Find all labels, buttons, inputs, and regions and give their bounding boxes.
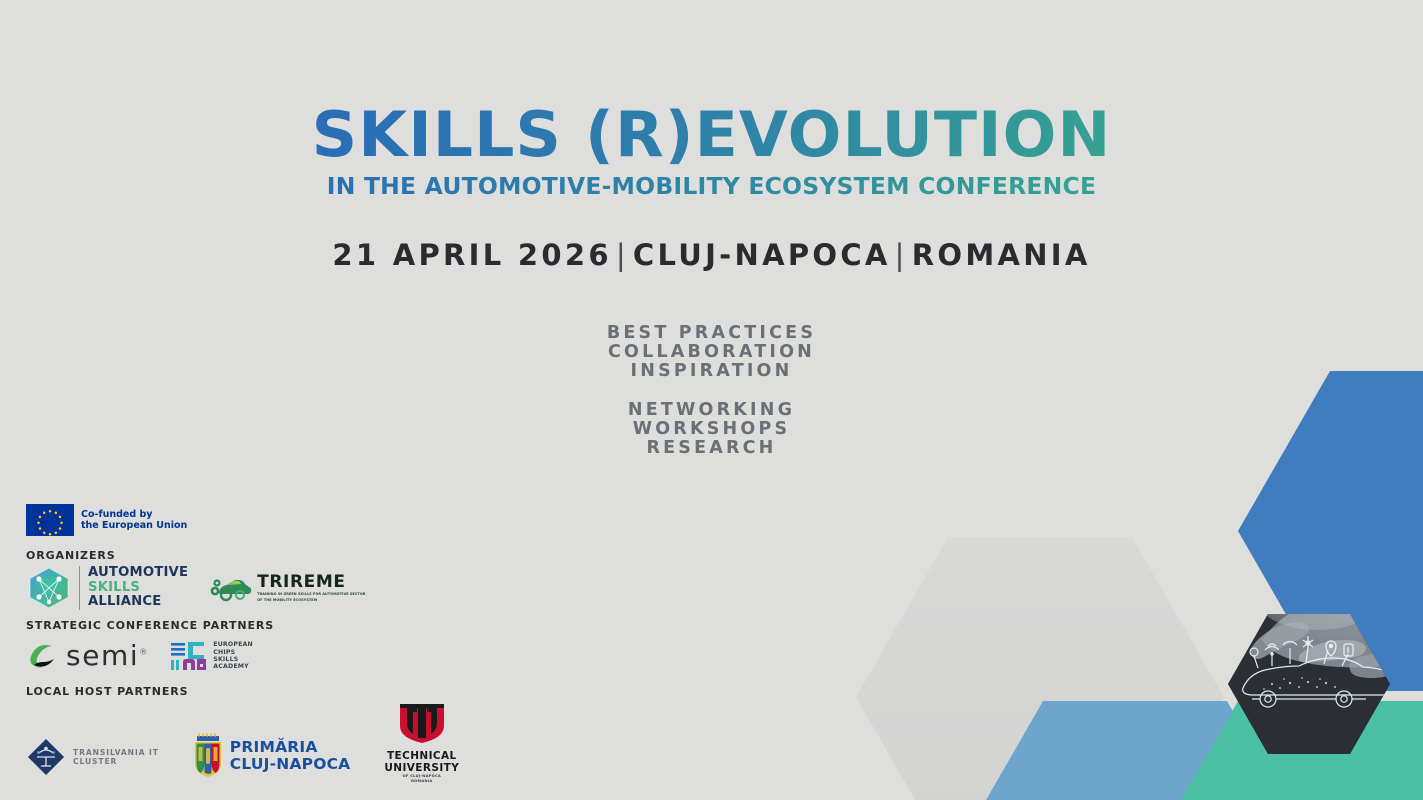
ecsa-line1: EUROPEAN [213, 641, 253, 648]
primaria-wordmark: PRIMĂRIA CLUJ-NAPOCA [230, 739, 351, 774]
trireme-wordmark: TRIREME TRAINING IN GREEN SKILLS FOR AUT… [257, 574, 365, 602]
ecsa-wordmark: EUROPEAN CHIPS SKILLS ACADEMY [213, 641, 253, 671]
asa-line3: ALLIANCE [88, 595, 188, 610]
transilvania-it-diamond-icon [26, 737, 66, 777]
connected-car-icon [1243, 636, 1401, 707]
asa-wordmark: AUTOMOTIVE SKILLS ALLIANCE [79, 566, 188, 610]
hex-medium-blue [951, 701, 1319, 800]
section-local-host-partners: LOCAL HOST PARTNERS TRANSI [26, 685, 446, 783]
hex-gray-large [856, 537, 1224, 800]
section-label-strategic-partners: STRATEGIC CONFERENCE PARTNERS [26, 619, 446, 632]
hand-photo [1250, 560, 1423, 678]
section-organizers: ORGANIZERS [26, 549, 446, 610]
eu-funding-line2: the European Union [81, 520, 187, 532]
trireme-subtitle-line2: OF THE MOBILITY ECOSYSTEM [257, 598, 365, 602]
eu-flag-icon [26, 504, 74, 536]
trireme-car-gear-icon [210, 574, 252, 602]
section-label-organizers: ORGANIZERS [26, 549, 446, 562]
eu-funding-badge: Co-funded by the European Union [26, 504, 446, 536]
keyword-list: BEST PRACTICES COLLABORATION INSPIRATION… [0, 324, 1423, 458]
ecsa-line4: ACADEMY [213, 663, 253, 670]
primaria-coat-of-arms-icon [193, 733, 223, 779]
technical-university-wordmark: TECHNICAL UNIVERSITY OF CLUJ-NAPOCA ROMA… [384, 751, 459, 783]
section-strategic-partners: STRATEGIC CONFERENCE PARTNERS semi® [26, 619, 446, 676]
transilvania-it-wordmark: TRANSILVANIA IT CLUSTER [73, 748, 159, 767]
semi-text: semi [66, 639, 139, 672]
logo-automotive-skills-alliance[interactable]: AUTOMOTIVE SKILLS ALLIANCE [26, 566, 188, 610]
tu-line2: UNIVERSITY [384, 763, 459, 775]
keyword-best-practices: BEST PRACTICES [0, 324, 1423, 343]
separator-1: | [612, 238, 633, 272]
semi-trademark: ® [139, 648, 147, 657]
event-date: 21 APRIL 2026 [332, 238, 611, 272]
hex-photo-connected-car [1228, 614, 1390, 754]
asa-line2: SKILLS [88, 581, 188, 596]
logo-technical-university[interactable]: TECHNICAL UNIVERSITY OF CLUJ-NAPOCA ROMA… [384, 702, 459, 783]
event-country: ROMANIA [912, 238, 1091, 272]
page-subtitle: IN THE AUTOMOTIVE-MOBILITY ECOSYSTEM CON… [0, 172, 1423, 200]
keyword-workshops: WORKSHOPS [0, 420, 1423, 439]
trireme-name: TRIREME [257, 574, 365, 591]
sponsor-area: Co-funded by the European Union ORGANIZE… [26, 504, 446, 792]
eu-funding-line1: Co-funded by [81, 509, 187, 521]
hex-teal-green [1146, 701, 1423, 800]
logo-primaria-cluj-napoca[interactable]: PRIMĂRIA CLUJ-NAPOCA [193, 733, 351, 783]
logo-semi[interactable]: semi® [26, 641, 147, 671]
asa-line1: AUTOMOTIVE [88, 566, 188, 581]
technical-university-shield-icon [394, 702, 450, 744]
primaria-line1: PRIMĂRIA [230, 739, 351, 757]
asa-hexagon-icon [26, 566, 72, 610]
semi-wordmark: semi® [66, 642, 147, 670]
event-city: CLUJ-NAPOCA [633, 238, 891, 272]
keyword-collaboration: COLLABORATION [0, 343, 1423, 362]
strategic-partners-logo-row: semi® [26, 636, 446, 676]
tit-line1: TRANSILVANIA IT [73, 748, 159, 757]
keyword-networking: NETWORKING [0, 401, 1423, 420]
tu-line4: ROMANIA [384, 779, 459, 784]
local-host-partners-logo-row: TRANSILVANIA IT CLUSTER [26, 702, 446, 783]
primaria-line2: CLUJ-NAPOCA [230, 756, 351, 774]
separator-2: | [891, 238, 912, 272]
logo-transilvania-it-cluster[interactable]: TRANSILVANIA IT CLUSTER [26, 737, 159, 783]
ecsa-line3: SKILLS [213, 656, 253, 663]
page-title: SKILLS (R)EVOLUTION [0, 104, 1423, 166]
ecsa-mark-icon [169, 639, 209, 673]
tit-line2: CLUSTER [73, 757, 159, 766]
ecsa-line2: CHIPS [213, 649, 253, 656]
event-date-location: 21 APRIL 2026|CLUJ-NAPOCA|ROMANIA [0, 238, 1423, 272]
semi-swoosh-icon [26, 641, 60, 671]
logo-trireme[interactable]: TRIREME TRAINING IN GREEN SKILLS FOR AUT… [210, 574, 365, 602]
tu-line1: TECHNICAL [384, 751, 459, 763]
section-label-local-host-partners: LOCAL HOST PARTNERS [26, 685, 446, 698]
eu-funding-text: Co-funded by the European Union [81, 509, 187, 532]
headline-block: SKILLS (R)EVOLUTION IN THE AUTOMOTIVE-MO… [0, 104, 1423, 200]
keyword-research: RESEARCH [0, 439, 1423, 458]
keyword-inspiration: INSPIRATION [0, 362, 1423, 381]
logo-european-chips-skills-academy[interactable]: EUROPEAN CHIPS SKILLS ACADEMY [169, 639, 253, 673]
organizers-logo-row: AUTOMOTIVE SKILLS ALLIANCE [26, 566, 446, 610]
trireme-subtitle-line1: TRAINING IN GREEN SKILLS FOR AUTOMOTIVE … [257, 592, 365, 596]
